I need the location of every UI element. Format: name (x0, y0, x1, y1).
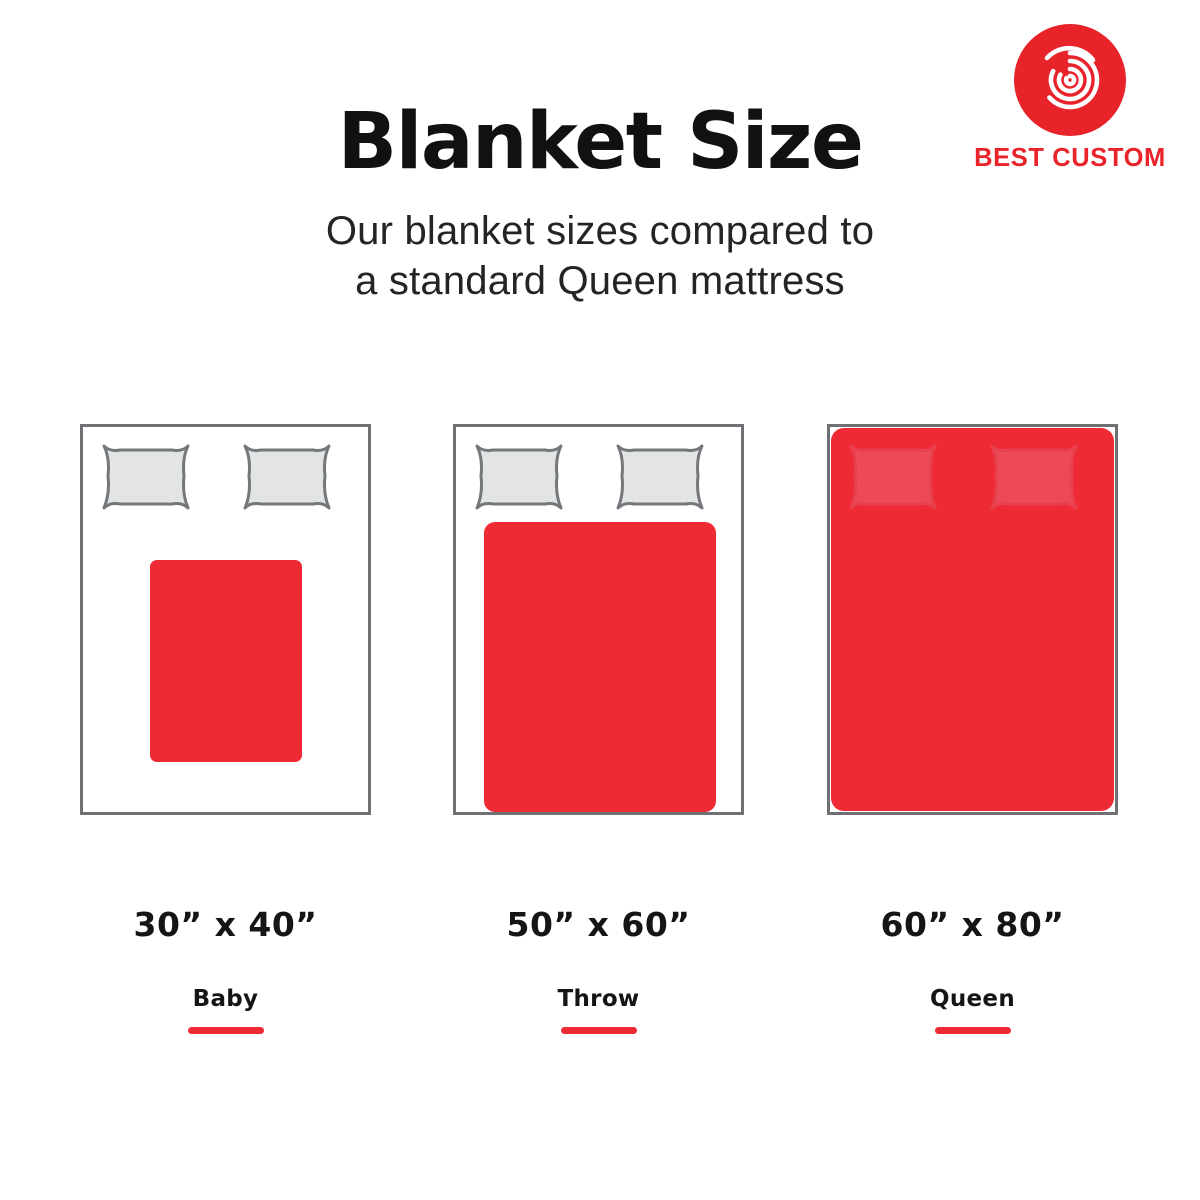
heading-block: Blanket Size Our blanket sizes compared … (0, 96, 1200, 306)
name-label-baby: Baby (80, 985, 371, 1013)
caption-queen: 60” x 80” Queen (827, 905, 1118, 1034)
pillow-left (104, 446, 188, 508)
pillow-left-under-blanket (851, 446, 935, 508)
bed-diagram-throw (453, 424, 744, 815)
page-subtitle: Our blanket sizes compared to a standard… (0, 206, 1200, 306)
pillow-right-under-blanket (992, 446, 1076, 508)
accent-rule-queen (935, 1027, 1011, 1034)
blanket-throw (484, 522, 716, 812)
subtitle-line-1: Our blanket sizes compared to (0, 206, 1200, 256)
pillow-right (245, 446, 329, 508)
name-label-throw: Throw (453, 985, 744, 1013)
size-label-throw: 50” x 60” (453, 905, 744, 945)
size-label-baby: 30” x 40” (80, 905, 371, 945)
blanket-baby (150, 560, 302, 762)
subtitle-line-2: a standard Queen mattress (0, 256, 1200, 306)
name-label-queen: Queen (827, 985, 1118, 1013)
pillow-left (477, 446, 561, 508)
bed-diagram-queen (827, 424, 1118, 815)
caption-baby: 30” x 40” Baby (80, 905, 371, 1034)
pillow-right (618, 446, 702, 508)
caption-throw: 50” x 60” Throw (453, 905, 744, 1034)
accent-rule-baby (188, 1027, 264, 1034)
accent-rule-throw (561, 1027, 637, 1034)
page-title: Blanket Size (0, 96, 1200, 188)
size-label-queen: 60” x 80” (827, 905, 1118, 945)
bed-diagram-baby (80, 424, 371, 815)
